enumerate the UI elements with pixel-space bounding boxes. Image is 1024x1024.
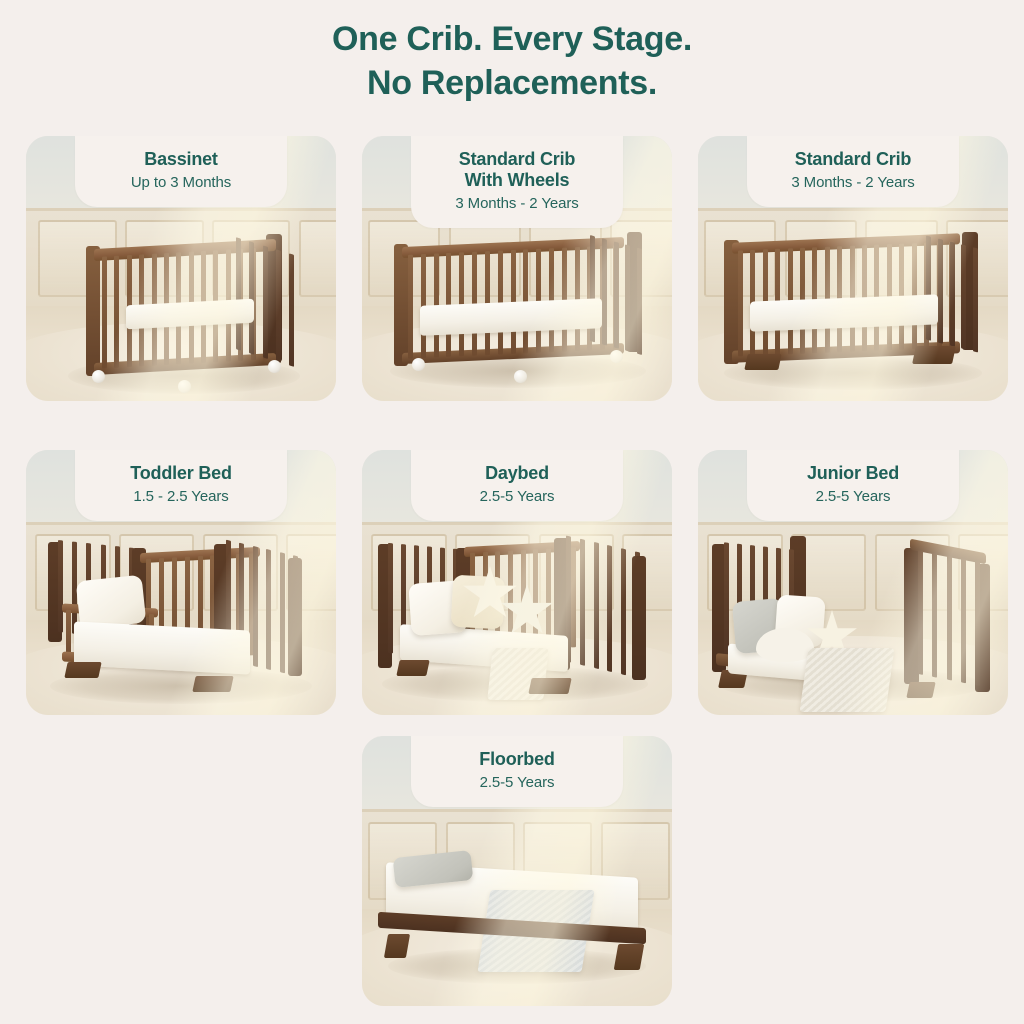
card-subtitle: 1.5 - 2.5 Years	[97, 487, 265, 507]
stage-card-junior-bed[interactable]: Junior Bed 2.5-5 Years	[698, 450, 1008, 715]
card-badge-bassinet: Bassinet Up to 3 Months	[75, 136, 287, 207]
card-subtitle: 2.5-5 Years	[769, 487, 937, 507]
stage-card-grid: Bassinet Up to 3 Months	[0, 0, 1024, 1024]
card-badge-floorbed: Floorbed 2.5-5 Years	[411, 736, 623, 807]
card-title: Standard Crib	[769, 149, 937, 170]
card-title: Daybed	[433, 463, 601, 484]
card-title: Floorbed	[433, 749, 601, 770]
stage-card-floorbed[interactable]: Floorbed 2.5-5 Years	[362, 736, 672, 1006]
card-title: Junior Bed	[769, 463, 937, 484]
card-badge-junior-bed: Junior Bed 2.5-5 Years	[747, 450, 959, 521]
card-badge-standard-crib-with-wheels: Standard Crib With Wheels 3 Months - 2 Y…	[411, 136, 623, 228]
stage-card-bassinet[interactable]: Bassinet Up to 3 Months	[26, 136, 336, 401]
card-title: Standard Crib With Wheels	[433, 149, 601, 191]
card-badge-standard-crib: Standard Crib 3 Months - 2 Years	[747, 136, 959, 207]
card-subtitle: 2.5-5 Years	[433, 773, 601, 793]
stage-card-standard-crib-with-wheels[interactable]: Standard Crib With Wheels 3 Months - 2 Y…	[362, 136, 672, 401]
card-subtitle: 3 Months - 2 Years	[769, 173, 937, 193]
card-subtitle: Up to 3 Months	[97, 173, 265, 193]
card-subtitle: 2.5-5 Years	[433, 487, 601, 507]
card-badge-daybed: Daybed 2.5-5 Years	[411, 450, 623, 521]
stage-card-standard-crib[interactable]: Standard Crib 3 Months - 2 Years	[698, 136, 1008, 401]
card-subtitle: 3 Months - 2 Years	[433, 194, 601, 214]
card-title: Bassinet	[97, 149, 265, 170]
stage-card-toddler-bed[interactable]: Toddler Bed 1.5 - 2.5 Years	[26, 450, 336, 715]
card-badge-toddler-bed: Toddler Bed 1.5 - 2.5 Years	[75, 450, 287, 521]
stage-card-daybed[interactable]: Daybed 2.5-5 Years	[362, 450, 672, 715]
card-title: Toddler Bed	[97, 463, 265, 484]
